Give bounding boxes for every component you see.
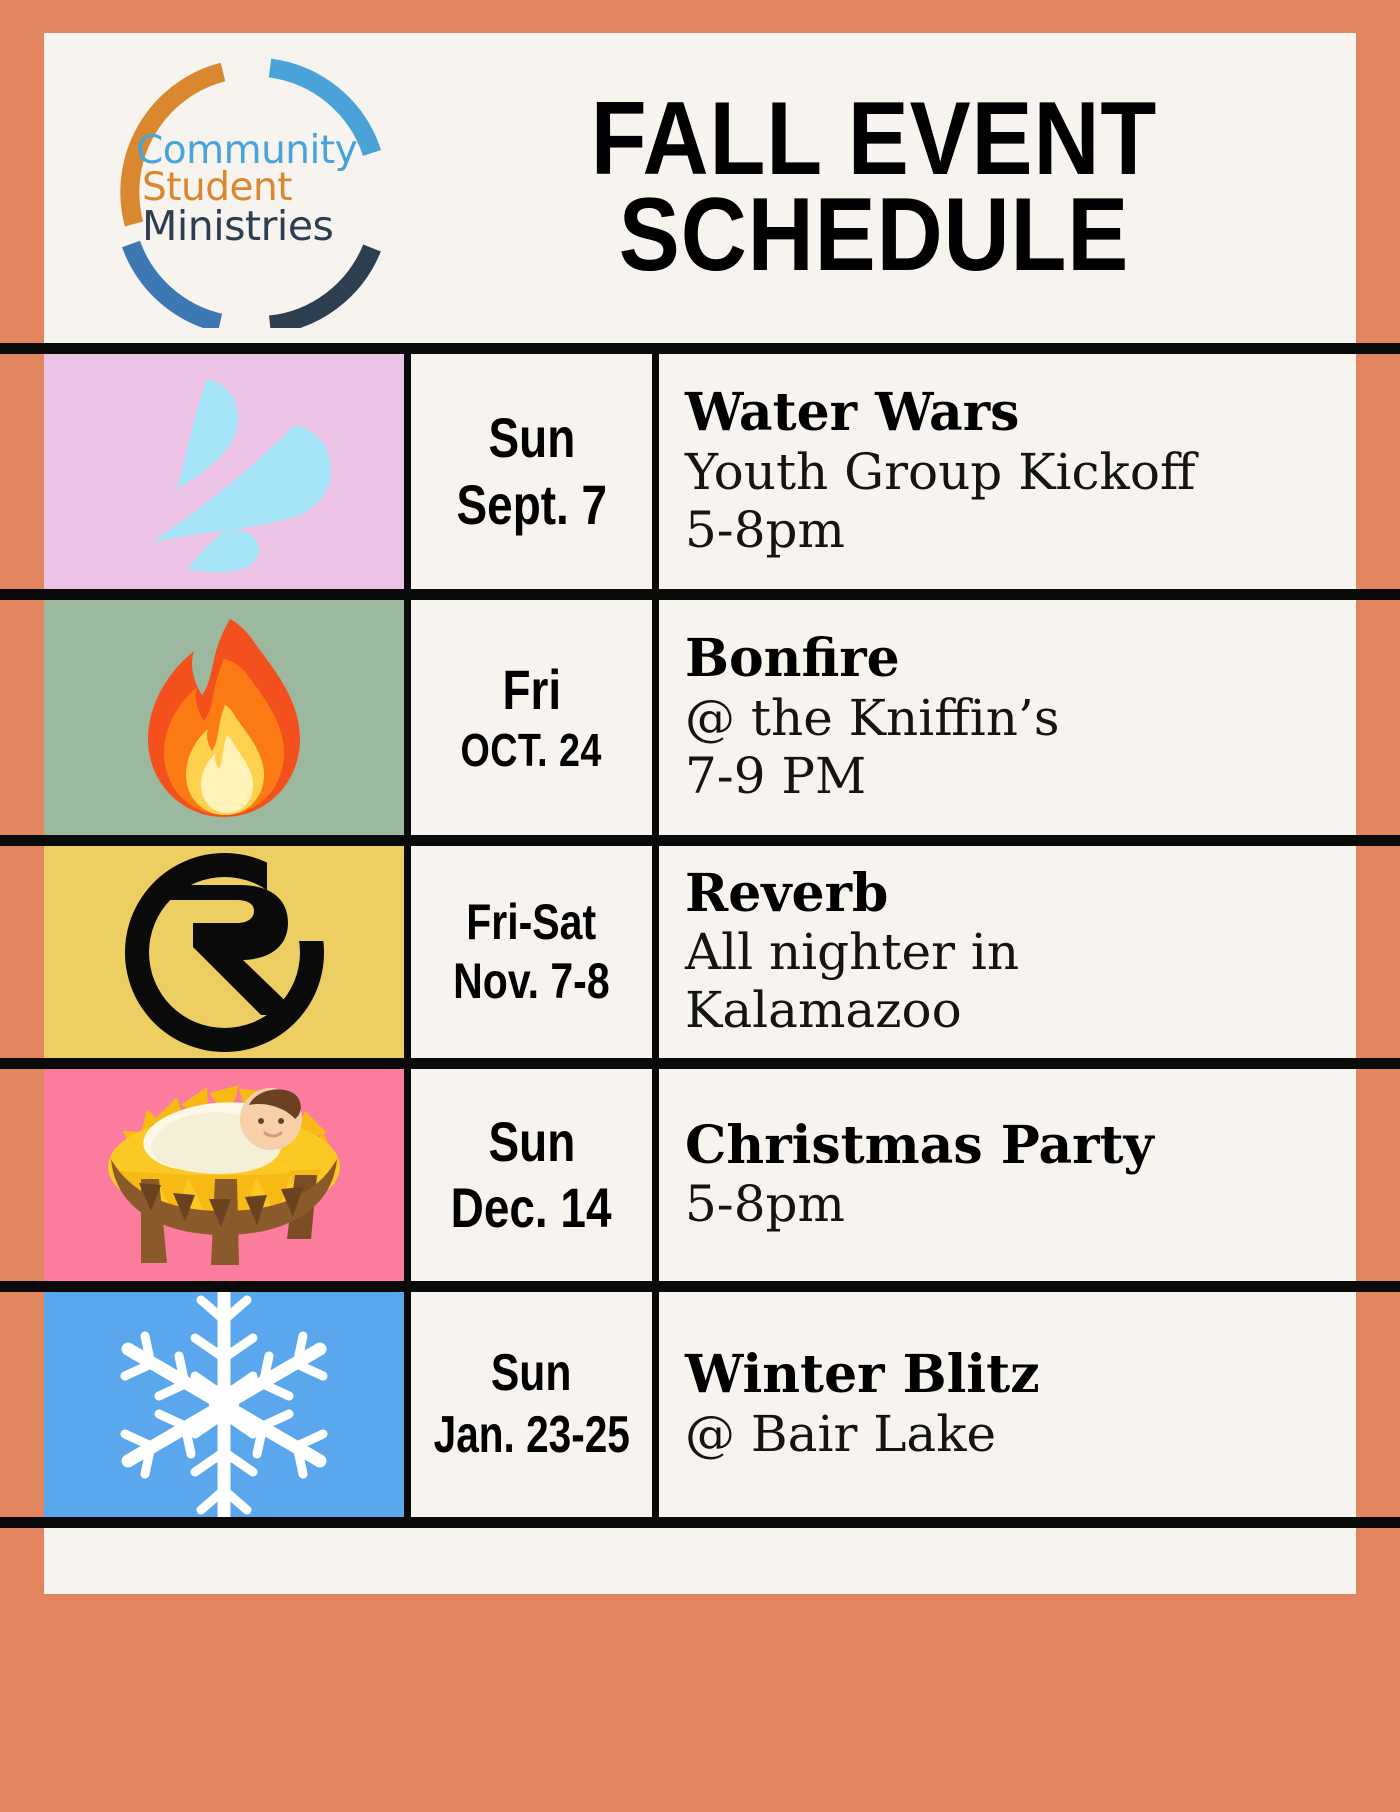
- event-title: Water Wars: [685, 384, 1356, 442]
- event-date-cell: Sun Dec. 14: [404, 1069, 652, 1281]
- table-rule: [0, 589, 1400, 600]
- event-detail-line: @ the Kniffin’s: [685, 689, 1356, 747]
- event-day: Sun: [488, 1109, 575, 1175]
- title-line-2: SCHEDULE: [485, 188, 1263, 284]
- event-day: Sun: [491, 1343, 572, 1404]
- table-row: Fri OCT. 24 Bonfire @ the Kniffin’s7-9 P…: [0, 600, 1400, 835]
- event-date: Nov. 7-8: [453, 952, 609, 1011]
- fire-icon: [124, 613, 324, 823]
- event-detail-line: All nighter in: [685, 923, 1356, 981]
- event-detail-line: 7-9 PM: [685, 747, 1356, 805]
- event-day: Sun: [488, 405, 575, 471]
- event-detail-line: Kalamazoo: [685, 981, 1356, 1039]
- logo-line-ministries: Ministries: [142, 207, 402, 246]
- poster-header: Community Student Ministries FALL EVENT …: [44, 33, 1356, 343]
- event-icon-cell: [44, 846, 404, 1058]
- event-date: Sept. 7: [456, 472, 607, 538]
- event-detail-line: 5-8pm: [685, 501, 1356, 559]
- organization-logo: Community Student Ministries: [102, 48, 432, 328]
- event-detail-line: Youth Group Kickoff: [685, 443, 1356, 501]
- event-date: Dec. 14: [451, 1175, 612, 1241]
- water-droplets-icon: [99, 367, 349, 577]
- page-title: FALL EVENT SCHEDULE: [432, 92, 1356, 283]
- logo-line-community: Community: [136, 132, 402, 169]
- reverb-logo-icon: [117, 846, 332, 1058]
- event-icon-cell: [44, 1069, 404, 1281]
- table-rule: [0, 1058, 1400, 1069]
- table-row: Sun Dec. 14 Christmas Party 5-8pm: [0, 1069, 1400, 1281]
- event-details-cell: Reverb All nighter inKalamazoo: [652, 846, 1356, 1058]
- table-rule: [0, 1517, 1400, 1528]
- event-date-cell: Sun Jan. 23-25: [404, 1292, 652, 1517]
- snowflake-icon: [109, 1292, 339, 1517]
- event-detail-line: 5-8pm: [685, 1175, 1356, 1233]
- event-details-cell: Christmas Party 5-8pm: [652, 1069, 1356, 1281]
- event-details-cell: Winter Blitz @ Bair Lake: [652, 1292, 1356, 1517]
- schedule-table: Sun Sept. 7 Water Wars Youth Group Kicko…: [0, 343, 1400, 1594]
- table-rule: [0, 835, 1400, 846]
- event-schedule-poster: Community Student Ministries FALL EVENT …: [0, 0, 1400, 1812]
- event-date-cell: Sun Sept. 7: [404, 354, 652, 589]
- event-date-cell: Fri-Sat Nov. 7-8: [404, 846, 652, 1058]
- logo-wordmark: Community Student Ministries: [136, 132, 402, 246]
- event-details-cell: Bonfire @ the Kniffin’s7-9 PM: [652, 600, 1356, 835]
- event-date: OCT. 24: [461, 723, 602, 777]
- event-date: Jan. 23-25: [433, 1405, 629, 1466]
- title-line-1: FALL EVENT: [485, 92, 1263, 188]
- event-day: Fri-Sat: [467, 893, 597, 952]
- footer-strip: [44, 1528, 1356, 1594]
- event-day: Fri: [502, 657, 561, 723]
- event-title: Winter Blitz: [685, 1346, 1356, 1404]
- table-rule: [0, 1281, 1400, 1292]
- table-rule: [0, 343, 1400, 354]
- table-row: Sun Jan. 23-25 Winter Blitz @ Bair Lake: [0, 1292, 1400, 1517]
- event-title: Reverb: [685, 865, 1356, 923]
- event-date-cell: Fri OCT. 24: [404, 600, 652, 835]
- event-title: Bonfire: [685, 630, 1356, 688]
- nativity-manger-icon: [89, 1075, 359, 1275]
- table-row: Fri-Sat Nov. 7-8 Reverb All nighter inKa…: [0, 846, 1400, 1058]
- event-icon-cell: [44, 1292, 404, 1517]
- event-details-cell: Water Wars Youth Group Kickoff5-8pm: [652, 354, 1356, 589]
- event-icon-cell: [44, 600, 404, 835]
- event-icon-cell: [44, 354, 404, 589]
- table-row: Sun Sept. 7 Water Wars Youth Group Kicko…: [0, 354, 1400, 589]
- event-title: Christmas Party: [685, 1117, 1356, 1175]
- event-detail-line: @ Bair Lake: [685, 1405, 1356, 1463]
